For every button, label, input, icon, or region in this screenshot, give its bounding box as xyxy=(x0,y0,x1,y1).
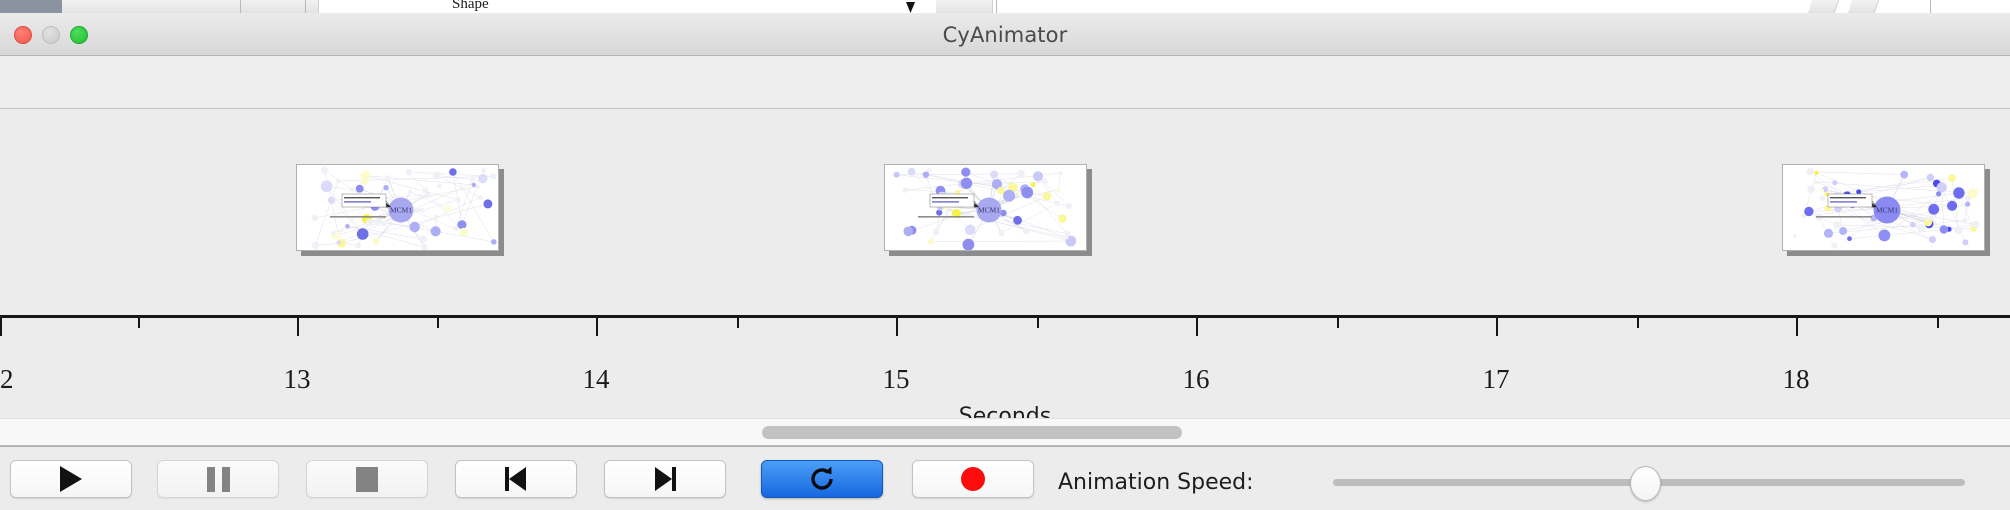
axis-title: Seconds xyxy=(0,404,2010,418)
playback-controls: Animation Speed: xyxy=(0,446,2010,510)
background-window-strip: Shape xyxy=(0,0,2010,13)
axis-tick-major xyxy=(1196,318,1198,336)
window-titlebar: CyAnimator xyxy=(0,13,2010,56)
background-window-label: Shape xyxy=(452,0,489,13)
background-tab-active xyxy=(0,0,63,13)
background-tab xyxy=(936,0,993,13)
stop-icon xyxy=(356,467,378,492)
axis-tick-minor xyxy=(1937,318,1939,328)
slider-knob[interactable] xyxy=(1630,466,1661,501)
cyanimator-window: Shape CyAnimator Clear All Frames xyxy=(0,0,2010,510)
background-tab xyxy=(1848,0,1879,13)
svg-text:MCM1: MCM1 xyxy=(978,206,1000,215)
stop-button[interactable] xyxy=(306,460,428,498)
axis-tick-major xyxy=(0,318,2,336)
axis-tick-label: 15 xyxy=(883,364,910,395)
network-thumbnail[interactable]: MCM1 xyxy=(1782,164,1985,251)
axis-tick-major xyxy=(1496,318,1498,336)
skip-forward-button[interactable] xyxy=(604,460,726,498)
axis-tick-major xyxy=(1796,318,1798,336)
background-divider xyxy=(996,0,997,13)
timeline-frames: MCM1MCM1MCM1 xyxy=(0,109,2010,309)
network-thumbnail[interactable]: MCM1 xyxy=(884,164,1087,251)
background-divider xyxy=(240,0,241,13)
axis-tick-major xyxy=(297,318,299,336)
background-tab xyxy=(244,0,319,13)
window-title: CyAnimator xyxy=(0,23,2010,47)
record-button[interactable] xyxy=(912,460,1034,498)
skip-back-icon xyxy=(503,466,529,492)
timeline-scrollbar[interactable] xyxy=(0,418,2010,446)
axis-tick-label: 14 xyxy=(583,364,610,395)
axis-tick-minor xyxy=(737,318,739,328)
timeline-panel[interactable]: MCM1MCM1MCM1 12131415161718 Seconds xyxy=(0,109,2010,418)
play-button[interactable] xyxy=(10,460,132,498)
play-icon xyxy=(60,466,82,492)
pause-button[interactable] xyxy=(157,460,279,498)
network-thumbnail[interactable]: MCM1 xyxy=(296,164,499,251)
loop-button[interactable] xyxy=(761,460,883,498)
background-tab xyxy=(1808,0,1839,13)
skip-forward-icon xyxy=(652,466,678,492)
axis-tick-major xyxy=(596,318,598,336)
axis-line xyxy=(0,315,2010,318)
skip-back-button[interactable] xyxy=(455,460,577,498)
animation-speed-slider[interactable] xyxy=(1333,479,1965,480)
frames-toolbar: Clear All Frames xyxy=(0,56,2010,109)
background-caret-icon xyxy=(906,2,915,13)
axis-tick-label: 17 xyxy=(1483,364,1510,395)
axis-tick-minor xyxy=(437,318,439,328)
axis-tick-minor xyxy=(1037,318,1039,328)
svg-text:MCM1: MCM1 xyxy=(390,206,412,215)
background-divider xyxy=(1930,0,1931,13)
background-divider xyxy=(305,0,306,13)
record-icon xyxy=(961,467,985,491)
background-tab xyxy=(182,0,245,13)
axis-tick-label: 18 xyxy=(1783,364,1810,395)
axis-tick-label: 12 xyxy=(0,364,14,395)
timeline-frame[interactable]: MCM1 xyxy=(296,164,504,256)
timeline-frame[interactable]: MCM1 xyxy=(1782,164,1990,256)
axis-tick-minor xyxy=(1337,318,1339,328)
scrollbar-thumb[interactable] xyxy=(762,426,1182,439)
axis-tick-minor xyxy=(138,318,140,328)
pause-icon xyxy=(207,467,230,492)
axis-tick-label: 16 xyxy=(1183,364,1210,395)
svg-text:MCM1: MCM1 xyxy=(1876,206,1898,215)
loop-icon xyxy=(808,465,836,493)
timeline-axis: 12131415161718 Seconds xyxy=(0,309,2010,418)
timeline-frame[interactable]: MCM1 xyxy=(884,164,1092,256)
animation-speed-label: Animation Speed: xyxy=(1058,470,1254,495)
background-tab xyxy=(62,0,183,13)
axis-tick-major xyxy=(896,318,898,336)
axis-tick-minor xyxy=(1637,318,1639,328)
axis-tick-label: 13 xyxy=(284,364,311,395)
